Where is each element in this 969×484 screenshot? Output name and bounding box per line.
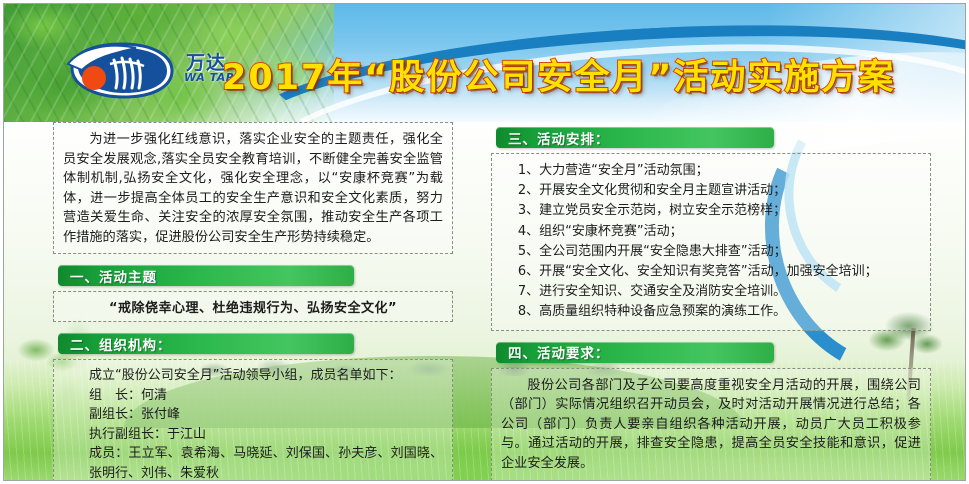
organization-role-leader: 组 长：何清: [63, 386, 443, 406]
section-heading-organization: 二、组织机构：: [58, 333, 354, 354]
list-item: 3、建立党员安全示范岗，树立安全示范榜样；: [501, 201, 921, 221]
poster-frame: 万达 WA TART 2017年“股份公司安全月”活动实施方案 为进一步强化红线…: [3, 3, 966, 481]
activity-schedule-box: 1、大力营造“安全月”活动氛围； 2、开展安全文化贯彻和安全月主题宣讲活动； 3…: [491, 153, 931, 331]
section-heading-activity-theme: 一、活动主题: [58, 265, 354, 286]
list-item: 4、组织“安康杯竞赛”活动；: [501, 222, 921, 242]
left-column: 为进一步强化红线意识，落实企业安全的主题责任，强化全员安全发展观念,落实全员安全…: [53, 122, 453, 481]
right-column: 三、活动安排： 1、大力营造“安全月”活动氛围； 2、开展安全文化贯彻和安全月主…: [491, 122, 931, 481]
activity-theme-text: “戒除侥幸心理、杜绝违规行为、弘扬安全文化”: [63, 297, 443, 316]
organization-members: 成员：王立军、袁希海、马晓延、刘保国、孙夫彦、刘国晓、张明行、刘伟、朱爱秋: [63, 444, 443, 481]
section-heading-activity-requirements: 四、活动要求：: [496, 342, 774, 363]
requirements-paragraph: 股份公司各部门及子公司要高度重视安全月活动的开展，围绕公司（部门）实际情况组织召…: [501, 376, 921, 474]
organization-box: 成立“股份公司安全月”活动领导小组，成员名单如下： 组 长：何清 副组长：张付峰…: [53, 359, 453, 481]
intro-box: 为进一步强化红线意识，落实企业安全的主题责任，强化全员安全发展观念,落实全员安全…: [53, 122, 453, 254]
safety-month-poster: 万达 WA TART 2017年“股份公司安全月”活动实施方案 为进一步强化红线…: [0, 0, 969, 484]
organization-members-label: 成员：: [89, 446, 128, 461]
organization-role-exec-deputy: 执行副组长：于江山: [63, 425, 443, 445]
company-logo: 万达 WA TART: [66, 42, 246, 100]
section-heading-activity-schedule: 三、活动安排：: [496, 127, 774, 148]
list-item: 1、大力营造“安全月”活动氛围；: [501, 161, 921, 181]
organization-role-deputy: 副组长：张付峰: [63, 405, 443, 425]
list-item: 2、开展安全文化贯彻和安全月主题宣讲活动；: [501, 181, 921, 201]
list-item: 8、高质量组织特种设备应急预案的演练工作。: [501, 302, 921, 322]
list-item: 7、进行安全知识、交通安全及消防安全培训。: [501, 282, 921, 302]
activity-requirements-box: 股份公司各部门及子公司要高度重视安全月活动的开展，围绕公司（部门）实际情况组织召…: [491, 368, 931, 481]
theme-box: “戒除侥幸心理、杜绝违规行为、弘扬安全文化”: [53, 291, 453, 322]
list-item: 5、全公司范围内开展“安全隐患大排查”活动；: [501, 242, 921, 262]
wanda-logo-icon: [66, 42, 181, 100]
intro-paragraph: 为进一步强化红线意识，落实企业安全的主题责任，强化全员安全发展观念,落实全员安全…: [63, 130, 443, 247]
header-row: 万达 WA TART 2017年“股份公司安全月”活动实施方案: [4, 4, 965, 122]
organization-members-list: 王立军、袁希海、马晓延、刘保国、孙夫彦、刘国晓、张明行、刘伟、朱爱秋: [89, 446, 443, 481]
list-item: 6、开展“安全文化、安全知识有奖竞答”活动，加强安全培训；: [501, 262, 921, 282]
organization-lead: 成立“股份公司安全月”活动领导小组，成员名单如下：: [63, 366, 443, 386]
page-title: 2017年“股份公司安全月”活动实施方案: [222, 49, 952, 100]
